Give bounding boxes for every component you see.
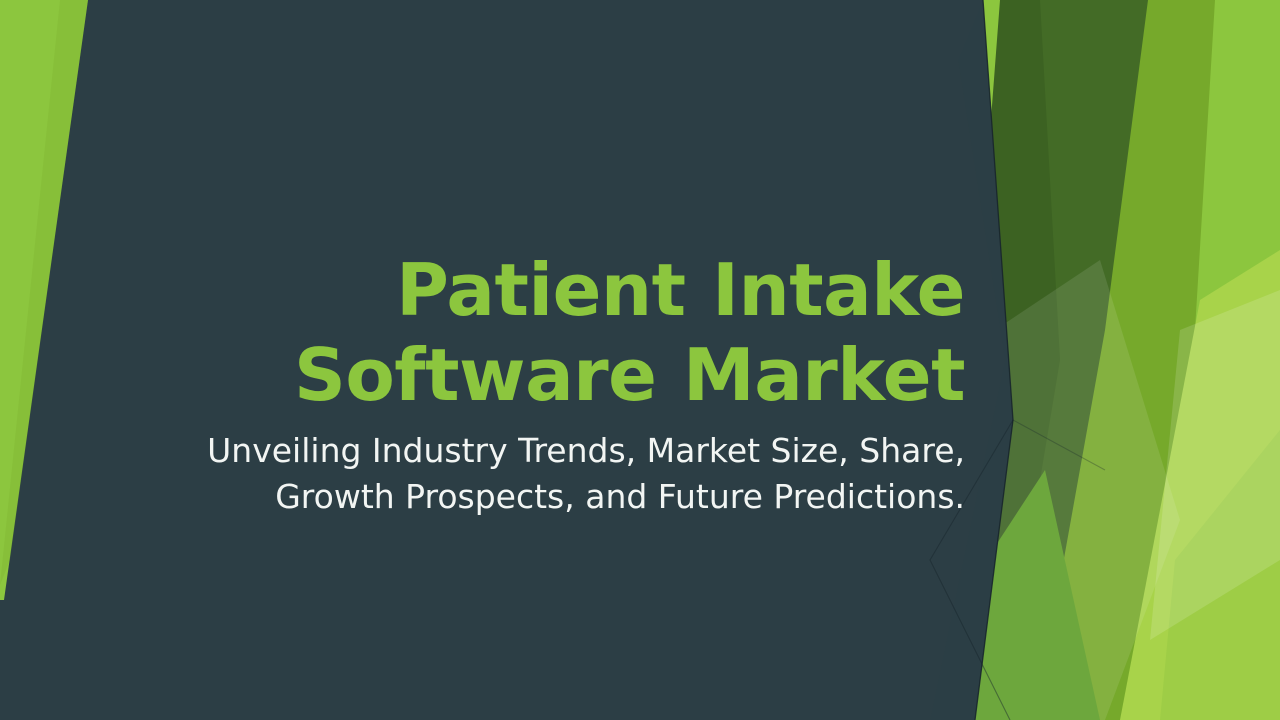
slide-title: Patient Intake Software Market: [120, 248, 965, 418]
slide-subtitle: Unveiling Industry Trends, Market Size, …: [160, 428, 965, 519]
slide-text-layer: Patient Intake Software Market Unveiling…: [0, 0, 1280, 720]
subtitle-container: Unveiling Industry Trends, Market Size, …: [160, 428, 965, 519]
presentation-slide: Patient Intake Software Market Unveiling…: [0, 0, 1280, 720]
title-container: Patient Intake Software Market: [120, 248, 965, 418]
